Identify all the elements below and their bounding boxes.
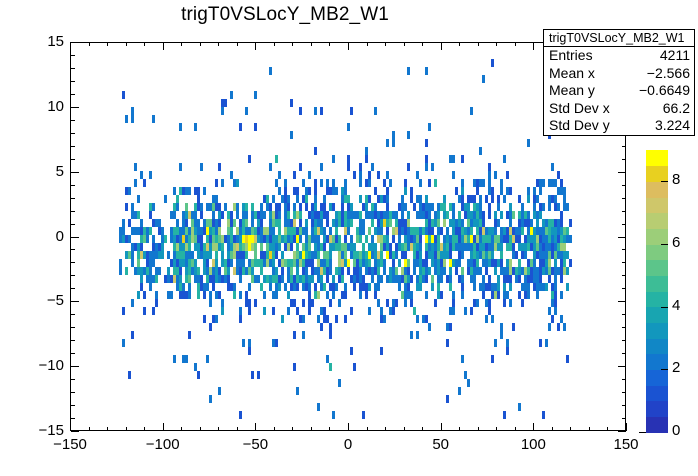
heatmap-cell <box>527 139 530 147</box>
heatmap-cell <box>353 171 356 179</box>
stats-value: 3.224 <box>655 117 690 135</box>
y-minor-tick <box>71 146 75 147</box>
x-top-minor-tick <box>311 42 312 46</box>
heatmap-cell <box>140 171 143 179</box>
heatmap-cell <box>149 267 152 275</box>
x-minor-tick <box>607 427 608 431</box>
y-minor-tick <box>71 120 75 121</box>
heatmap-cell <box>563 195 566 203</box>
heatmap-cell <box>482 179 485 187</box>
y-right-major-tick <box>618 431 626 432</box>
x-minor-tick <box>274 427 275 431</box>
heatmap-cell <box>443 203 446 211</box>
heatmap-cell <box>386 203 389 211</box>
heatmap-cell <box>383 267 386 275</box>
heatmap-cell <box>278 187 281 195</box>
heatmap-cell <box>461 187 464 195</box>
heatmap-cell <box>500 179 503 187</box>
heatmap-cell <box>128 371 131 379</box>
x-top-minor-tick <box>292 42 293 46</box>
heatmap-cell <box>362 275 365 283</box>
heatmap-cell <box>128 235 131 243</box>
heatmap-cell <box>386 227 389 235</box>
y-right-major-tick <box>618 172 626 173</box>
heatmap-cell <box>203 187 206 195</box>
heatmap-cell <box>308 291 311 299</box>
heatmap-cell <box>179 267 182 275</box>
y-minor-tick <box>71 159 75 160</box>
heatmap-cell <box>305 227 308 235</box>
heatmap-cell <box>347 259 350 267</box>
palette-band <box>646 150 668 166</box>
heatmap-cell <box>461 291 464 299</box>
heatmap-cell <box>539 211 542 219</box>
heatmap-cell <box>230 211 233 219</box>
heatmap-cell <box>491 195 494 203</box>
palette-band <box>646 213 668 229</box>
heatmap-cell <box>428 211 431 219</box>
heatmap-cell <box>320 107 323 115</box>
heatmap-cell <box>227 267 230 275</box>
y-right-minor-tick <box>622 353 626 354</box>
heatmap-cell <box>281 267 284 275</box>
heatmap-cell <box>380 347 383 355</box>
heatmap-cell <box>425 67 428 75</box>
heatmap-cell <box>287 291 290 299</box>
heatmap-cell <box>410 187 413 195</box>
heatmap-cell <box>566 251 569 259</box>
heatmap-cell <box>188 243 191 251</box>
heatmap-cell <box>290 243 293 251</box>
y-major-tick <box>71 107 79 108</box>
heatmap-cell <box>176 219 179 227</box>
heatmap-cell <box>380 275 383 283</box>
heatmap-cell <box>494 211 497 219</box>
heatmap-cell <box>131 115 134 123</box>
heatmap-cell <box>248 155 251 163</box>
heatmap-cell <box>158 219 161 227</box>
heatmap-cell <box>329 323 332 331</box>
heatmap-cell <box>347 195 350 203</box>
heatmap-cell <box>326 211 329 219</box>
heatmap-cell <box>293 299 296 307</box>
heatmap-cell <box>359 179 362 187</box>
heatmap-cell <box>467 379 470 387</box>
heatmap-cell <box>329 267 332 275</box>
heatmap-cell <box>335 187 338 195</box>
x-minor-tick <box>515 427 516 431</box>
heatmap-cell <box>473 283 476 291</box>
heatmap-cell <box>326 291 329 299</box>
heatmap-cell <box>371 235 374 243</box>
stats-value: 4211 <box>660 47 690 65</box>
heatmap-cell <box>407 219 410 227</box>
heatmap-cell <box>404 299 407 307</box>
heatmap-cell <box>173 211 176 219</box>
heatmap-cell <box>218 267 221 275</box>
palette-band <box>646 338 668 354</box>
palette-band <box>646 369 668 385</box>
stats-title: trigT0VSLocY_MB2_W1 <box>544 30 694 47</box>
heatmap-cell <box>506 339 509 347</box>
heatmap-cell <box>425 315 428 323</box>
heatmap-cell <box>278 171 281 179</box>
stats-value: −0.6649 <box>639 82 690 100</box>
heatmap-cell <box>359 211 362 219</box>
y-axis-label: −15 <box>18 422 64 439</box>
heatmap-cell <box>317 315 320 323</box>
heatmap-cell <box>440 227 443 235</box>
heatmap-cell <box>404 251 407 259</box>
heatmap-cell <box>161 227 164 235</box>
heatmap-cell <box>506 291 509 299</box>
heatmap-cell <box>296 283 299 291</box>
heatmap-cell <box>416 315 419 323</box>
heatmap-cell <box>314 107 317 115</box>
heatmap-cell <box>497 195 500 203</box>
heatmap-cell <box>497 291 500 299</box>
heatmap-cell <box>239 411 242 419</box>
heatmap-cell <box>209 323 212 331</box>
heatmap-cell <box>128 187 131 195</box>
heatmap-cell <box>197 291 200 299</box>
heatmap-cell <box>482 219 485 227</box>
heatmap-cell <box>293 203 296 211</box>
heatmap-cell <box>500 187 503 195</box>
heatmap-cell <box>194 211 197 219</box>
heatmap-cell <box>464 307 467 315</box>
heatmap-cell <box>401 195 404 203</box>
heatmap-cell <box>239 123 242 131</box>
heatmap-cell <box>137 259 140 267</box>
heatmap-cell <box>365 291 368 299</box>
heatmap-cell <box>566 283 569 291</box>
heatmap-cell <box>320 275 323 283</box>
y-right-minor-tick <box>622 146 626 147</box>
heatmap-cell <box>155 275 158 283</box>
heatmap-cell <box>554 283 557 291</box>
heatmap-cell <box>521 227 524 235</box>
heatmap-cell <box>419 243 422 251</box>
heatmap-cell <box>539 275 542 283</box>
heatmap-cell <box>536 195 539 203</box>
heatmap-cell <box>482 75 485 83</box>
heatmap-cell <box>140 243 143 251</box>
heatmap-cell <box>374 107 377 115</box>
heatmap-cell <box>470 307 473 315</box>
heatmap-cell <box>314 179 317 187</box>
heatmap-cell <box>245 203 248 211</box>
heatmap-cell <box>350 107 353 115</box>
heatmap-cell <box>251 371 254 379</box>
heatmap-cell <box>221 307 224 315</box>
heatmap-cell <box>485 315 488 323</box>
heatmap-cell <box>509 275 512 283</box>
heatmap-cell <box>509 283 512 291</box>
y-right-minor-tick <box>622 379 626 380</box>
y-minor-tick <box>71 224 75 225</box>
heatmap-cell <box>380 307 383 315</box>
heatmap-cell <box>362 411 365 419</box>
heatmap-cell <box>533 259 536 267</box>
heatmap-cell <box>527 195 530 203</box>
heatmap-cell <box>374 187 377 195</box>
heatmap-cell <box>188 275 191 283</box>
heatmap-cell <box>548 259 551 267</box>
heatmap-cell <box>446 211 449 219</box>
heatmap-cell <box>122 219 125 227</box>
heatmap-cell <box>557 323 560 331</box>
heatmap-cell <box>410 331 413 339</box>
y-right-minor-tick <box>622 198 626 199</box>
heatmap-cell <box>344 283 347 291</box>
heatmap-cell <box>359 195 362 203</box>
heatmap-cell <box>359 291 362 299</box>
stats-key: Mean y <box>549 82 595 100</box>
x-axis-label: −50 <box>225 436 285 453</box>
heatmap-cell <box>449 251 452 259</box>
heatmap-cell <box>131 299 134 307</box>
heatmap-cell <box>461 195 464 203</box>
heatmap-cell <box>230 227 233 235</box>
heatmap-cell <box>458 211 461 219</box>
heatmap-cell <box>218 219 221 227</box>
heatmap-cell <box>494 171 497 179</box>
heatmap-cell <box>389 179 392 187</box>
heatmap-cell <box>254 251 257 259</box>
heatmap-cell <box>434 299 437 307</box>
heatmap-cell <box>428 179 431 187</box>
y-major-tick <box>71 366 79 367</box>
heatmap-cell <box>167 267 170 275</box>
heatmap-cell <box>251 219 254 227</box>
heatmap-cell <box>482 211 485 219</box>
x-top-major-tick <box>533 42 534 50</box>
heatmap-cell <box>470 227 473 235</box>
heatmap-cell <box>281 275 284 283</box>
heatmap-cell <box>137 211 140 219</box>
heatmap-cell <box>299 235 302 243</box>
heatmap-cell <box>455 267 458 275</box>
heatmap-cell <box>254 91 257 99</box>
heatmap-cell <box>296 267 299 275</box>
stats-key: Std Dev x <box>549 100 610 118</box>
heatmap-cell <box>272 227 275 235</box>
palette-band <box>646 416 668 432</box>
heatmap-cell <box>338 379 341 387</box>
heatmap-cell <box>230 171 233 179</box>
palette-band <box>646 385 668 401</box>
heatmap-cell <box>197 187 200 195</box>
heatmap-cell <box>533 187 536 195</box>
heatmap-cell <box>215 195 218 203</box>
y-right-minor-tick <box>622 159 626 160</box>
heatmap-cell <box>314 187 317 195</box>
heatmap-cell <box>554 299 557 307</box>
heatmap-cell <box>257 275 260 283</box>
heatmap-cell <box>413 267 416 275</box>
heatmap-cell <box>365 203 368 211</box>
x-top-minor-tick <box>385 42 386 46</box>
heatmap-cell <box>566 227 569 235</box>
stats-row: Std Dev x66.2 <box>544 100 694 118</box>
heatmap-cell <box>491 59 494 67</box>
heatmap-cell <box>221 251 224 259</box>
heatmap-cell <box>311 299 314 307</box>
heatmap-cell <box>518 195 521 203</box>
heatmap-cell <box>449 267 452 275</box>
heatmap-cell <box>224 99 227 107</box>
heatmap-cell <box>260 267 263 275</box>
heatmap-cell <box>386 235 389 243</box>
heatmap-cell <box>332 203 335 211</box>
heatmap-cell <box>179 275 182 283</box>
heatmap-cell <box>233 219 236 227</box>
heatmap-cell <box>134 179 137 187</box>
heatmap-cell <box>251 203 254 211</box>
stats-value: 66.2 <box>663 100 690 118</box>
heatmap-cell <box>494 339 497 347</box>
x-minor-tick <box>404 427 405 431</box>
heatmap-cell <box>386 171 389 179</box>
heatmap-cell <box>308 283 311 291</box>
x-minor-tick <box>311 427 312 431</box>
heatmap-cell <box>542 411 545 419</box>
y-minor-tick <box>71 55 75 56</box>
heatmap-cell <box>377 267 380 275</box>
x-axis-label: 150 <box>596 436 656 453</box>
heatmap-cell <box>503 195 506 203</box>
heatmap-cell <box>320 179 323 187</box>
heatmap-cell <box>470 107 473 115</box>
heatmap-cell <box>404 187 407 195</box>
heatmap-cell <box>167 251 170 259</box>
heatmap-cell <box>452 171 455 179</box>
heatmap-cell <box>428 267 431 275</box>
heatmap-cell <box>191 251 194 259</box>
heatmap-cell <box>374 203 377 211</box>
x-top-minor-tick <box>329 42 330 46</box>
heatmap-cell <box>158 267 161 275</box>
heatmap-cell <box>152 203 155 211</box>
heatmap-cell <box>155 291 158 299</box>
heatmap-cell <box>461 267 464 275</box>
heatmap-cell <box>455 187 458 195</box>
heatmap-cell <box>152 259 155 267</box>
statistics-box[interactable]: trigT0VSLocY_MB2_W1 Entries4211Mean x−2.… <box>543 29 695 136</box>
y-minor-tick <box>71 185 75 186</box>
heatmap-cell <box>548 203 551 211</box>
heatmap-cell <box>344 235 347 243</box>
stats-key: Mean x <box>549 65 595 83</box>
heatmap-cell <box>407 283 410 291</box>
heatmap-cell <box>374 291 377 299</box>
heatmap-cell <box>317 403 320 411</box>
x-major-tick <box>348 423 349 431</box>
x-top-minor-tick <box>422 42 423 46</box>
heatmap-cell <box>329 299 332 307</box>
heatmap-cell <box>395 299 398 307</box>
heatmap-cell <box>239 291 242 299</box>
heatmap-cell <box>263 211 266 219</box>
heatmap-cell <box>125 267 128 275</box>
palette-band <box>646 275 668 291</box>
x-top-minor-tick <box>496 42 497 46</box>
heatmap-cell <box>293 219 296 227</box>
heatmap-cell <box>323 307 326 315</box>
heatmap-cell <box>548 323 551 331</box>
heatmap-cell <box>284 283 287 291</box>
heatmap-cell <box>413 307 416 315</box>
heatmap-cell <box>431 203 434 211</box>
heatmap-cell <box>563 187 566 195</box>
y-right-minor-tick <box>622 211 626 212</box>
heatmap-cell <box>302 179 305 187</box>
stats-row: Mean x−2.566 <box>544 65 694 83</box>
heatmap-cell <box>515 251 518 259</box>
heatmap-cell <box>200 203 203 211</box>
y-minor-tick <box>71 405 75 406</box>
heatmap-cell <box>425 163 428 171</box>
heatmap-cell <box>209 395 212 403</box>
heatmap-cell <box>461 251 464 259</box>
heatmap-cell <box>404 203 407 211</box>
heatmap-cell <box>194 363 197 371</box>
heatmap-cell <box>275 251 278 259</box>
heatmap-cell <box>563 259 566 267</box>
heatmap-cell <box>344 315 347 323</box>
heatmap-cell <box>290 99 293 107</box>
heatmap-cell <box>260 203 263 211</box>
heatmap-cell <box>341 275 344 283</box>
palette-band <box>646 244 668 260</box>
palette-band <box>646 181 668 197</box>
heatmap-cell <box>302 315 305 323</box>
y-right-minor-tick <box>622 405 626 406</box>
heatmap-cell <box>221 299 224 307</box>
heatmap-cell <box>368 307 371 315</box>
heatmap-cell <box>368 259 371 267</box>
heatmap-cell <box>269 203 272 211</box>
heatmap-cell <box>188 187 191 195</box>
heatmap-cell <box>509 187 512 195</box>
heatmap-cell <box>407 211 410 219</box>
heatmap-cell <box>476 187 479 195</box>
heatmap-cell <box>533 203 536 211</box>
heatmap-cell <box>281 251 284 259</box>
heatmap-cell <box>344 291 347 299</box>
heatmap-cell <box>275 291 278 299</box>
heatmap-cell <box>197 219 200 227</box>
x-top-minor-tick <box>181 42 182 46</box>
heatmap-cell <box>188 291 191 299</box>
heatmap-cell <box>221 243 224 251</box>
heatmap-cell <box>254 243 257 251</box>
heatmap-cell <box>239 307 242 315</box>
stats-row: Std Dev y3.224 <box>544 117 694 135</box>
heatmap-cell <box>431 283 434 291</box>
heatmap-cell <box>518 403 521 411</box>
x-top-minor-tick <box>367 42 368 46</box>
heatmap-cell <box>488 275 491 283</box>
heatmap-cell <box>383 259 386 267</box>
palette-tick <box>661 307 668 308</box>
heatmap-cell <box>203 291 206 299</box>
heatmap-cell <box>560 211 563 219</box>
x-top-minor-tick <box>459 42 460 46</box>
heatmap-cell <box>185 355 188 363</box>
x-major-tick <box>626 423 627 431</box>
